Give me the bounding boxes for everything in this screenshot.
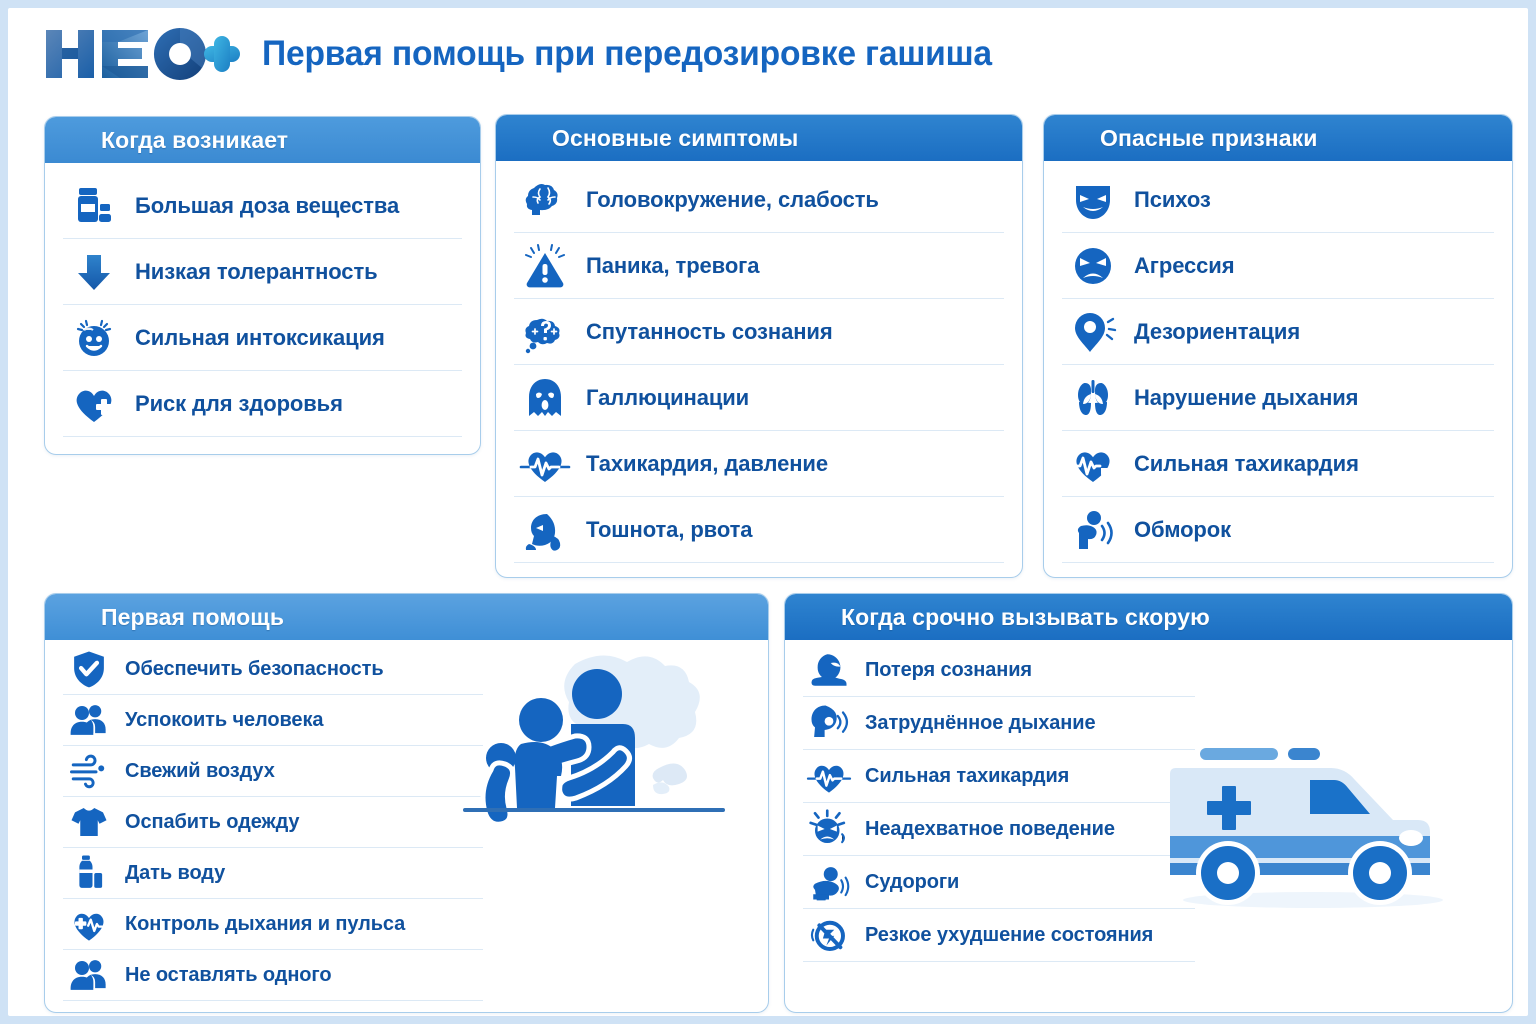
two-people-icon (63, 949, 115, 1001)
unconscious-person-icon (803, 644, 855, 696)
fainting-person-icon (1062, 504, 1124, 556)
no-entry-decline-icon (803, 909, 855, 961)
list-item[interactable]: Судороги (803, 856, 1195, 909)
list-item[interactable]: Не оставлять одного (63, 950, 483, 1001)
water-bottle-icon (63, 847, 115, 899)
list-item[interactable]: Свежий воздух (63, 746, 483, 797)
heart-cross-pulse-icon (63, 898, 115, 950)
card-main-symptoms: Основные симптомы Головокружение, с (495, 114, 1023, 578)
list-item-label: Затруднённое дыхание (865, 712, 1096, 735)
neo-plus-logo-icon (44, 26, 240, 82)
list-item[interactable]: Затруднённое дыхание (803, 697, 1195, 750)
card-header-main-symptoms: Основные симптомы (496, 115, 1022, 161)
list-item-label: Психоз (1134, 187, 1211, 213)
list-item[interactable]: Тошнота, рвота (514, 497, 1004, 563)
list-item[interactable]: Дать воду (63, 848, 483, 899)
list-item[interactable]: Успокоить человека (63, 695, 483, 746)
list-item[interactable]: Обеспечить безопасность (63, 644, 483, 695)
card-header-when-occurs: Когда возникает (45, 117, 480, 163)
breathing-difficulty-icon (803, 697, 855, 749)
list-item[interactable]: Спутанность сознания (514, 299, 1004, 365)
list-item-label: Спутанность сознания (586, 319, 833, 345)
list-item-label: Не оставлять одного (125, 964, 332, 987)
list-item-label: Неадехватное поведение (865, 818, 1115, 841)
brain-icon (514, 174, 576, 226)
list-item-label: Дать воду (125, 862, 225, 885)
list-item-label: Обморок (1134, 517, 1231, 543)
list-item-label: Сильная тахикардия (1134, 451, 1359, 477)
list-item[interactable]: Обморок (1062, 497, 1494, 563)
seizure-person-icon (803, 856, 855, 908)
list-item[interactable]: Головокружение, слабость (514, 167, 1004, 233)
card-body-main-symptoms: Головокружение, слабость Паника, тревога (496, 161, 1022, 573)
thought-question-icon (514, 306, 576, 358)
list-item[interactable]: Риск для здоровья (63, 371, 462, 437)
list-item-label: Оспабить одежду (125, 811, 299, 834)
card-body-when-occurs: Большая доза вещества Низкая толерантнос… (45, 163, 480, 447)
list-item-label: Низкая толерантность (135, 259, 378, 285)
list-item[interactable]: Оспабить одежду (63, 797, 483, 848)
list-item[interactable]: Потеря сознания (803, 644, 1195, 697)
agitated-face-icon (803, 803, 855, 855)
list-item-label: Судороги (865, 871, 959, 894)
list-item-label: Риск для здоровья (135, 391, 343, 417)
list-item-label: Успокоить человека (125, 709, 323, 732)
list-item[interactable]: Резкое ухудшение состояния (803, 909, 1195, 962)
list-item-label: Обеспечить безопасность (125, 658, 384, 681)
card-title: Когда срочно вызывать скорую (841, 604, 1210, 631)
list-item-label: Паника, тревога (586, 253, 759, 279)
heart-pulse-icon (803, 750, 855, 802)
card-header-call-ambulance: Когда срочно вызывать скорую (785, 594, 1512, 640)
list-item[interactable]: Тахикардия, давление (514, 431, 1004, 497)
list-item-label: Свежий воздух (125, 760, 275, 783)
list-item-label: Сильная интоксикация (135, 325, 385, 351)
angry-face-icon (1062, 240, 1124, 292)
card-when-occurs: Когда возникает Большая доза вещества (44, 116, 481, 455)
list-item-label: Потеря сознания (865, 659, 1032, 682)
page-title: Первая помощь при передозировке гашиша (262, 34, 992, 74)
card-body-danger-signs: Психоз Агрессия (1044, 161, 1512, 573)
evil-mask-icon (1062, 174, 1124, 226)
warning-triangle-icon (514, 240, 576, 292)
list-item-label: Головокружение, слабость (586, 187, 879, 213)
list-item-label: Нарушение дыхания (1134, 385, 1358, 411)
infographic-page: Первая помощь при передозировке гашиша К… (8, 8, 1528, 1016)
list-item-label: Контроль дыхания и пульса (125, 913, 405, 936)
tshirt-icon (63, 796, 115, 848)
list-item[interactable]: Агрессия (1062, 233, 1494, 299)
card-danger-signs: Опасные признаки Психоз (1043, 114, 1513, 578)
list-item-label: Большая доза вещества (135, 193, 399, 219)
list-item[interactable]: Контроль дыхания и пульса (63, 899, 483, 950)
shield-check-icon (63, 643, 115, 695)
page-header: Первая помощь при передозировке гашиша (44, 18, 1022, 90)
vomiting-head-icon (514, 504, 576, 556)
list-item-label: Тахикардия, давление (586, 451, 828, 477)
list-item[interactable]: Сильная тахикардия (1062, 431, 1494, 497)
list-item[interactable]: Галлюцинации (514, 365, 1004, 431)
heart-pulse-icon (514, 438, 576, 490)
list-item-label: Резкое ухудшение состояния (865, 924, 1153, 947)
list-item[interactable]: Дезориентация (1062, 299, 1494, 365)
pill-bottle-icon (63, 180, 125, 232)
heart-pulse-icon (1062, 438, 1124, 490)
list-item-label: Тошнота, рвота (586, 517, 752, 543)
list-item[interactable]: Сильная тахикардия (803, 750, 1195, 803)
comforting-people-illustration (463, 648, 763, 898)
lungs-icon (1062, 372, 1124, 424)
card-title: Первая помощь (101, 604, 284, 631)
card-title: Когда возникает (101, 127, 288, 154)
list-item[interactable]: Сильная интоксикация (63, 305, 462, 371)
list-item[interactable]: Большая доза вещества (63, 173, 462, 239)
list-item[interactable]: Психоз (1062, 167, 1494, 233)
list-item-label: Агрессия (1134, 253, 1234, 279)
list-item[interactable]: Нарушение дыхания (1062, 365, 1494, 431)
ghost-icon (514, 372, 576, 424)
ambulance-illustration (1148, 708, 1488, 928)
list-item[interactable]: Неадехватное поведение (803, 803, 1195, 856)
heart-cross-icon (63, 378, 125, 430)
two-people-icon (63, 694, 115, 746)
list-item-label: Галлюцинации (586, 385, 749, 411)
dizzy-head-icon (1062, 306, 1124, 358)
list-item[interactable]: Низкая толерантность (63, 239, 462, 305)
dizzy-face-icon (63, 312, 125, 364)
list-item-label: Сильная тахикардия (865, 765, 1069, 788)
list-item[interactable]: Паника, тревога (514, 233, 1004, 299)
card-header-first-aid: Первая помощь (45, 594, 768, 640)
down-arrow-icon (63, 246, 125, 298)
wind-icon (63, 745, 115, 797)
card-title: Опасные признаки (1100, 125, 1318, 152)
card-title: Основные симптомы (552, 125, 798, 152)
list-item-label: Дезориентация (1134, 319, 1300, 345)
card-header-danger-signs: Опасные признаки (1044, 115, 1512, 161)
